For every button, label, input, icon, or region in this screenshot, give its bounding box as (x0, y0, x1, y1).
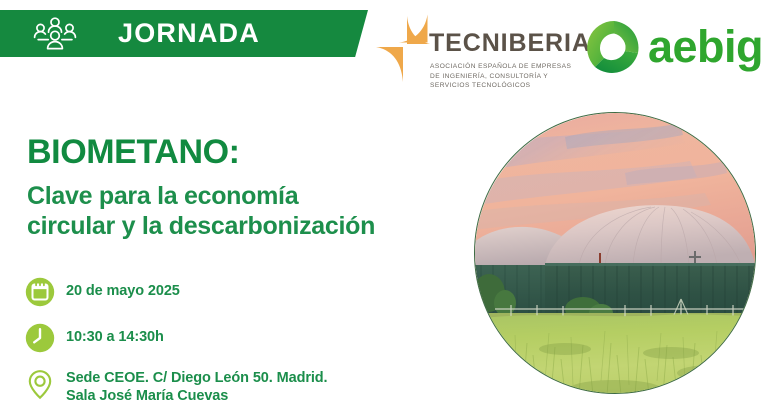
tecniberia-star-icon (374, 13, 432, 85)
headline-block: BIOMETANO: Clave para la economía circul… (27, 133, 447, 241)
aebig-wordmark: aebig (648, 22, 763, 72)
event-poster: JORNADA TECNIBERIA ASOCIACIÓN ESPAÑOLA D… (0, 0, 770, 400)
calendar-icon (24, 276, 56, 308)
location-pin-icon (24, 368, 56, 400)
tecniberia-wordmark: TECNIBERIA (429, 29, 591, 58)
aebig-logo: aebig (586, 20, 756, 78)
tecniberia-subtitle-line-2: DE INGENIERÍA, CONSULTORÍA Y (430, 72, 571, 82)
tecniberia-subtitle-line-1: ASOCIACIÓN ESPAÑOLA DE EMPRESAS (430, 62, 571, 72)
tecniberia-logo: TECNIBERIA ASOCIACIÓN ESPAÑOLA DE EMPRES… (374, 11, 579, 96)
aebig-swirl-icon (586, 20, 642, 76)
detail-venue-line-2: Sala José María Cuevas (66, 387, 327, 400)
detail-venue-line-1: Sede CEOE. C/ Diego León 50. Madrid. (66, 369, 327, 387)
detail-row-venue: Sede CEOE. C/ Diego León 50. Madrid. Sal… (24, 368, 444, 400)
tecniberia-subtitle-line-3: SERVICIOS TECNOLÓGICOS (430, 81, 571, 91)
clock-icon (24, 322, 56, 354)
page-title: BIOMETANO: (27, 133, 447, 171)
detail-time-text: 10:30 a 14:30h (66, 322, 164, 346)
biogas-plant-photo (474, 112, 756, 394)
banner-label: JORNADA (118, 17, 260, 50)
detail-row-date: 20 de mayo 2025 (24, 276, 444, 308)
detail-row-time: 10:30 a 14:30h (24, 322, 444, 354)
headline-subtitle-line-2: circular y la descarbonización (27, 211, 447, 241)
tecniberia-subtitle: ASOCIACIÓN ESPAÑOLA DE EMPRESAS DE INGEN… (430, 62, 571, 91)
headline-subtitle-line-1: Clave para la economía (27, 181, 447, 211)
jornada-banner: JORNADA (0, 10, 368, 57)
headline-subtitle: Clave para la economía circular y la des… (27, 181, 447, 241)
detail-venue-text: Sede CEOE. C/ Diego León 50. Madrid. Sal… (66, 368, 327, 400)
detail-date-text: 20 de mayo 2025 (66, 276, 180, 300)
event-details: 20 de mayo 2025 10:30 a 14:30h Sede CEOE… (24, 276, 444, 400)
meeting-people-icon (32, 17, 78, 51)
